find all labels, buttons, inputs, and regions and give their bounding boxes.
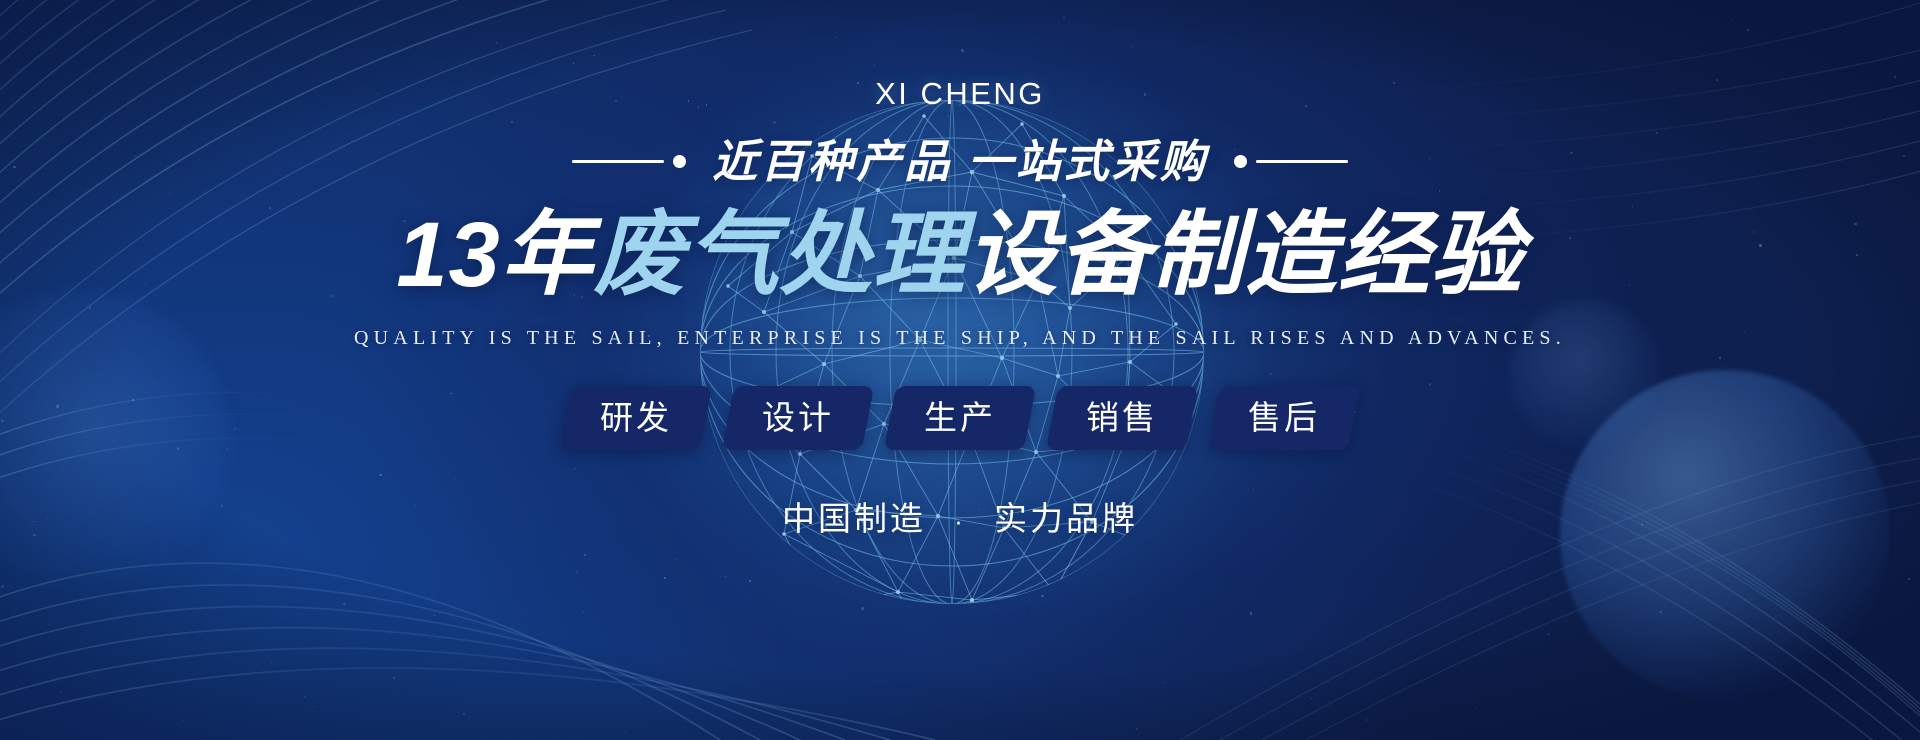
headline-suffix: 设备制造经验 bbox=[966, 204, 1524, 306]
service-pill[interactable]: 生产 bbox=[884, 386, 1036, 450]
footer-slogan-right: 实力品牌 bbox=[994, 500, 1138, 537]
banner-content: XI CHENG 近百种产品 一站式采购 13年废气处理设备制造经验 QUALI… bbox=[0, 0, 1920, 740]
rule-left-bar bbox=[572, 160, 664, 163]
service-pill-label: 销售 bbox=[1086, 399, 1158, 437]
footer-slogan: 中国制造 · 实力品牌 bbox=[782, 492, 1138, 540]
subtitle-text: 近百种产品 一站式采购 bbox=[712, 139, 1208, 184]
rule-left-decoration bbox=[572, 155, 686, 168]
rule-right-bar bbox=[1256, 160, 1348, 163]
subtitle-row: 近百种产品 一站式采购 bbox=[572, 139, 1348, 184]
rule-right-decoration bbox=[1234, 155, 1348, 168]
rule-right-dot bbox=[1234, 155, 1247, 168]
service-pill[interactable]: 设计 bbox=[722, 386, 874, 450]
service-pill-label: 售后 bbox=[1248, 399, 1320, 437]
footer-slogan-separator: · bbox=[954, 506, 966, 536]
headline-prefix: 13年 bbox=[396, 204, 593, 306]
tagline-en: QUALITY IS THE SAIL, ENTERPRISE IS THE S… bbox=[354, 327, 1566, 350]
footer-slogan-left: 中国制造 bbox=[782, 500, 926, 537]
service-pill-label: 设计 bbox=[762, 399, 834, 437]
service-pill[interactable]: 销售 bbox=[1046, 386, 1198, 450]
service-pill[interactable]: 研发 bbox=[560, 386, 712, 450]
hero-banner: XI CHENG 近百种产品 一站式采购 13年废气处理设备制造经验 QUALI… bbox=[0, 0, 1920, 740]
headline: 13年废气处理设备制造经验 bbox=[396, 206, 1523, 305]
service-pill-label: 生产 bbox=[924, 399, 996, 437]
service-pill-group: 研发设计生产销售售后 bbox=[566, 386, 1354, 450]
rule-left-dot bbox=[673, 155, 686, 168]
service-pill[interactable]: 售后 bbox=[1208, 386, 1360, 450]
service-pill-label: 研发 bbox=[600, 399, 672, 437]
headline-highlight: 废气处理 bbox=[594, 204, 966, 306]
brand-name-en: XI CHENG bbox=[875, 78, 1045, 109]
